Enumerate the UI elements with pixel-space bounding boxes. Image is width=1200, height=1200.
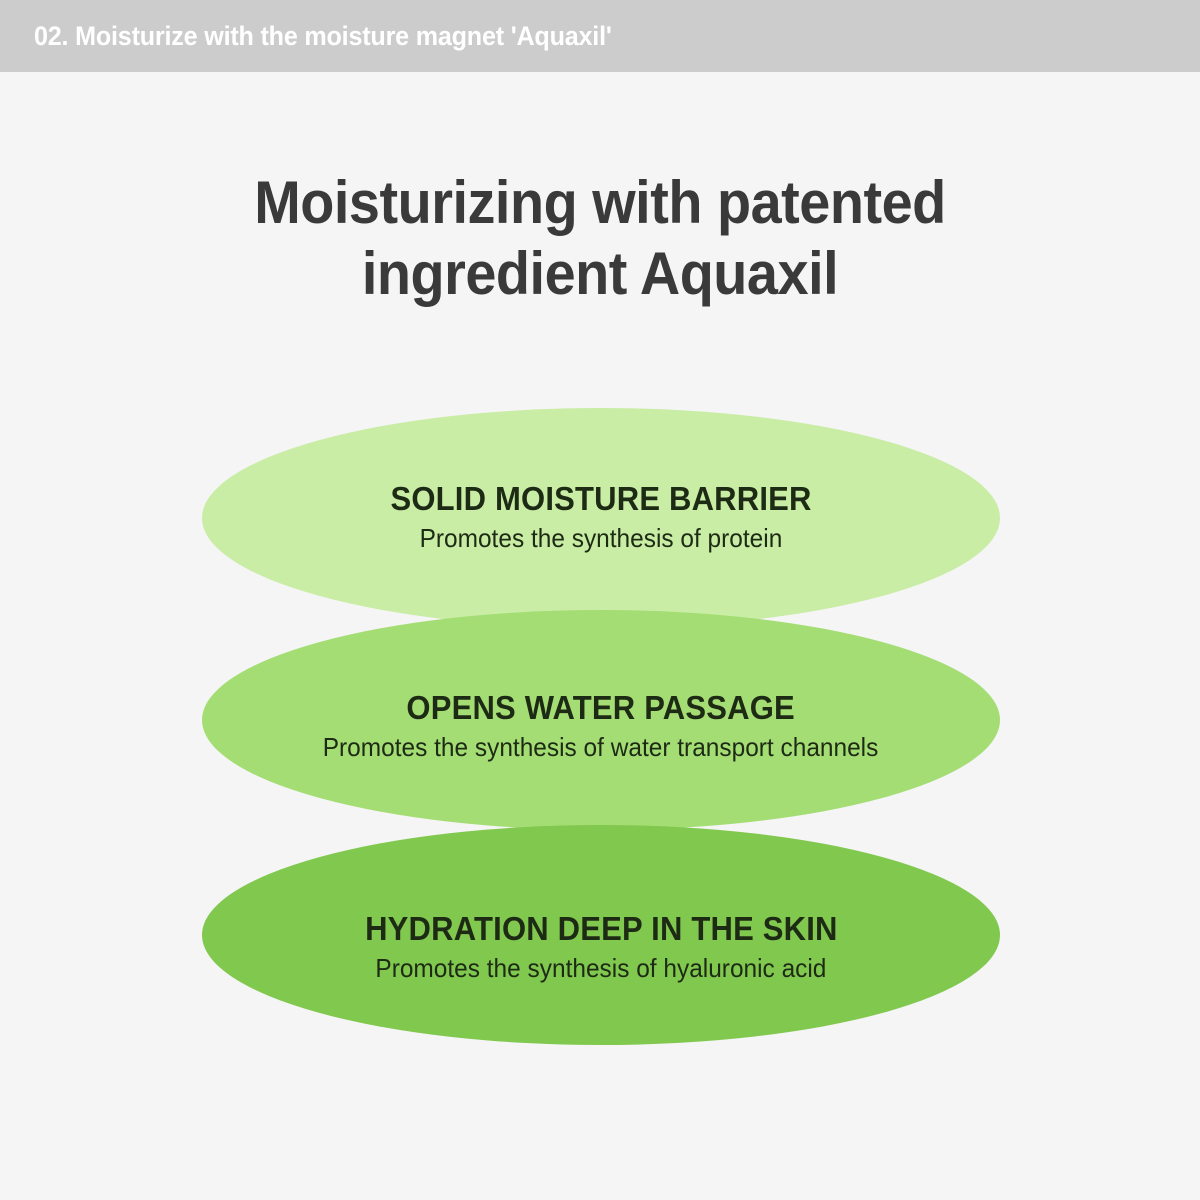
- diagram-layer-subtitle: Promotes the synthesis of water transpor…: [323, 731, 879, 764]
- infographic-page: 02. Moisturize with the moisture magnet …: [0, 0, 1200, 1200]
- diagram-layer-subtitle: Promotes the synthesis of hyaluronic aci…: [375, 952, 826, 985]
- diagram-layer-title: OPENS WATER PASSAGE: [407, 690, 796, 726]
- diagram-layer-subtitle: Promotes the synthesis of protein: [420, 522, 783, 555]
- diagram-layer-title: SOLID MOISTURE BARRIER: [390, 481, 811, 517]
- diagram-layer-opens-water-passage: OPENS WATER PASSAGE Promotes the synthes…: [202, 610, 1000, 830]
- diagram-layer-hydration-deep-in-the-skin: HYDRATION DEEP IN THE SKIN Promotes the …: [202, 825, 1000, 1045]
- diagram-layer-solid-moisture-barrier: SOLID MOISTURE BARRIER Promotes the synt…: [202, 408, 1000, 628]
- stacked-ellipse-diagram: SOLID MOISTURE BARRIER Promotes the synt…: [0, 0, 1200, 1200]
- diagram-layer-title: HYDRATION DEEP IN THE SKIN: [365, 911, 838, 947]
